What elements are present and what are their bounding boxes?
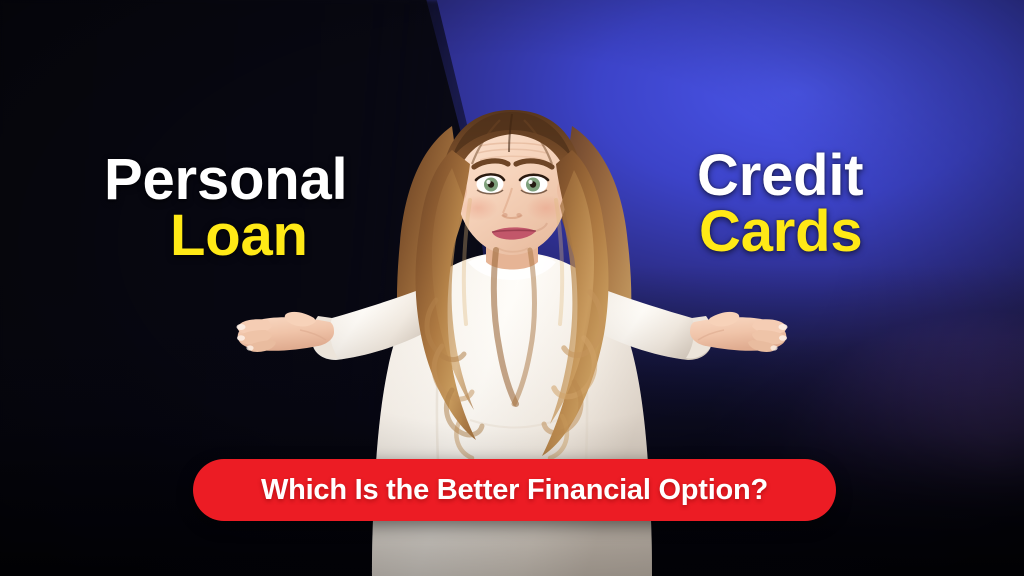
headline-left-line1: Personal (104, 152, 347, 208)
headline-personal-loan: Personal Loan (104, 152, 347, 263)
headline-credit-cards: Credit Cards (697, 148, 863, 259)
headline-right-line2: Cards (699, 204, 863, 260)
question-banner: Which Is the Better Financial Option? (193, 459, 836, 521)
poster-canvas: Personal Loan Credit Cards Which Is the … (0, 0, 1024, 576)
headline-left-line2: Loan (170, 208, 347, 264)
headline-right-line1: Credit (697, 148, 863, 204)
question-banner-text: Which Is the Better Financial Option? (261, 474, 768, 507)
